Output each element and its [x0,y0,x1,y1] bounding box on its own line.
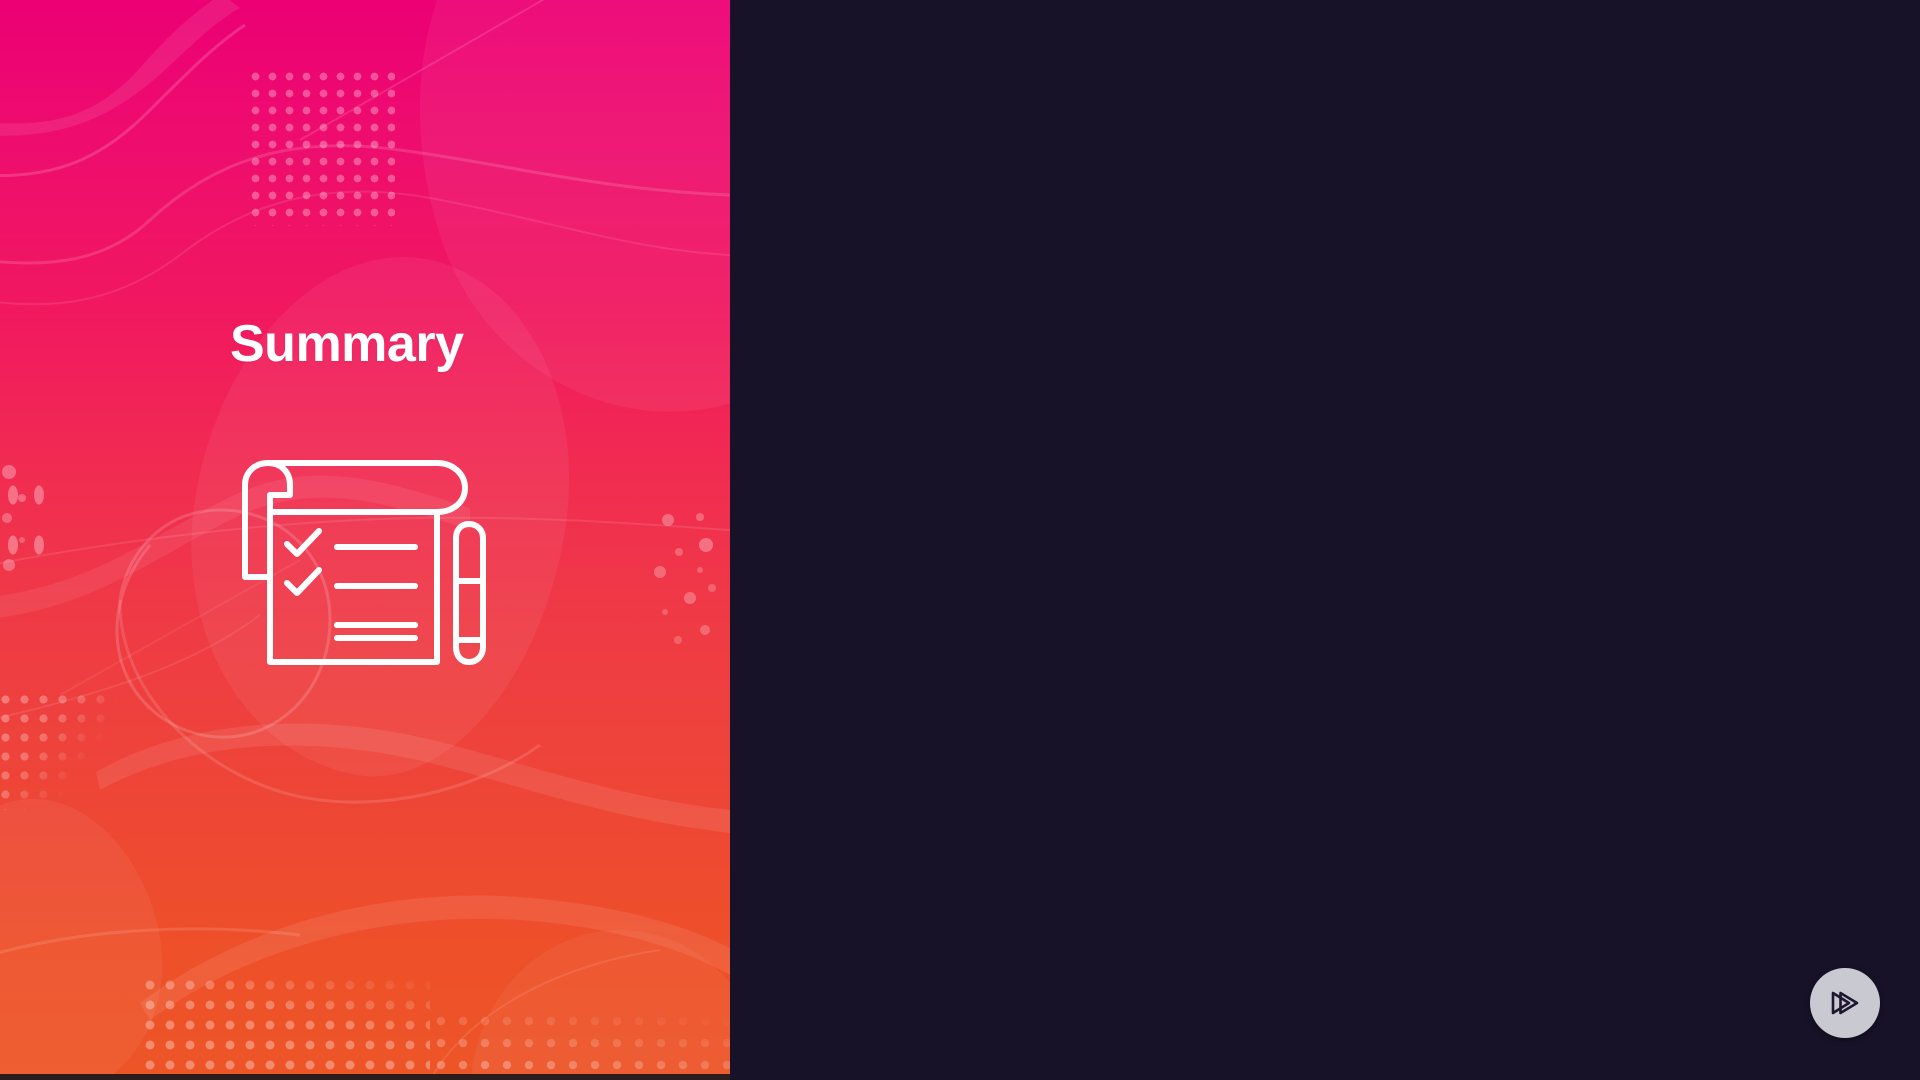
checklist-scroll-with-pen-icon [215,455,515,670]
slide-title: Summary [230,318,464,370]
halftone-dots-bottom-right [430,1010,730,1080]
slide-bottom-strip [0,1074,730,1080]
double-play-triangle-icon [1828,986,1862,1020]
halftone-dots-top [247,68,395,226]
slide-panel: Summary [0,0,730,1080]
halftone-dots-left [0,470,56,580]
dark-backdrop [730,0,1920,1080]
halftone-dots-bottom [140,975,430,1080]
halftone-dots-bottom-left [0,690,116,810]
presentation-stage: Summary [0,0,1920,1080]
play-control-button[interactable] [1810,968,1880,1038]
